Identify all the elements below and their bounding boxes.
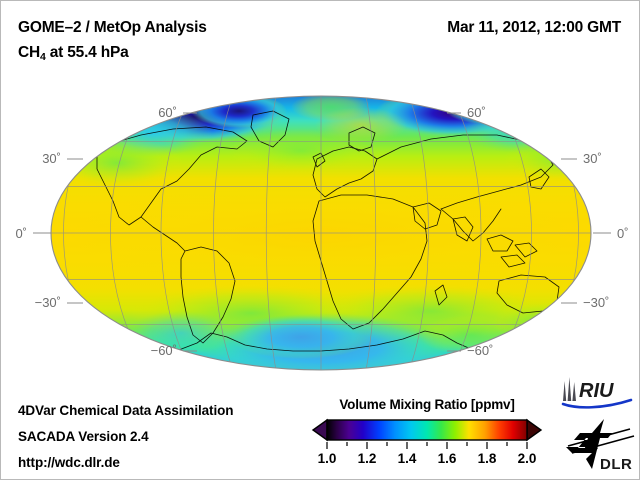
- riu-wordmark: RIU: [579, 380, 614, 402]
- dlr-logo: DLR: [564, 417, 636, 473]
- colorbar-extend-high: [527, 420, 541, 440]
- lat-label-right-m60: −60˚: [467, 343, 493, 358]
- colorbar-tick-1: 1.0: [318, 451, 337, 466]
- colorbar: 1.0 1.2 1.4 1.6 1.8 2.0: [311, 418, 543, 470]
- colorbar-tick-6: 2.0: [518, 451, 537, 466]
- lat-label-left-m30: −30˚: [35, 295, 61, 310]
- dlr-wordmark: DLR: [600, 456, 632, 473]
- lat-label-right-60: 60˚: [467, 105, 486, 120]
- footer-line-assimilation: 4DVar Chemical Data Assimilation: [18, 403, 233, 418]
- lat-label-left-m60: −60˚: [151, 343, 177, 358]
- colorbar-extend-low: [313, 420, 327, 440]
- lat-label-right-0: 0˚: [617, 226, 629, 241]
- species-prefix: CH: [18, 44, 40, 61]
- colorbar-tick-4: 1.6: [438, 451, 457, 466]
- species-subscript: 4: [40, 51, 46, 63]
- lat-label-left-60: 60˚: [158, 105, 177, 120]
- colorbar-title: Volume Mixing Ratio [ppmv]: [311, 397, 543, 412]
- riu-towers-icon: [563, 377, 576, 401]
- lat-label-right-m30: −30˚: [583, 295, 609, 310]
- colorbar-tick-5: 1.8: [478, 451, 497, 466]
- page-title: GOME–2 / MetOp Analysis: [18, 19, 207, 37]
- colorbar-tick-2: 1.2: [358, 451, 377, 466]
- mollweide-map: 60˚ 30˚ 0˚ −30˚ −60˚ 60˚ 30˚ 0˚ −30˚ −60…: [1, 85, 640, 381]
- figure-canvas: GOME–2 / MetOp Analysis CH4 at 55.4 hPa …: [0, 0, 640, 480]
- lat-label-left-0: 0˚: [15, 226, 27, 241]
- lat-label-right-30: 30˚: [583, 151, 602, 166]
- datetime-label: Mar 11, 2012, 12:00 GMT: [447, 19, 621, 37]
- colorbar-ticks: [327, 442, 527, 449]
- footer-line-url[interactable]: http://wdc.dlr.de: [18, 455, 120, 470]
- species-suffix: at 55.4 hPa: [46, 44, 129, 61]
- colorbar-gradient: [327, 420, 527, 440]
- colorbar-block: Volume Mixing Ratio [ppmv]: [311, 397, 543, 470]
- species-level-label: CH4 at 55.4 hPa: [18, 44, 129, 62]
- lat-label-left-30: 30˚: [42, 151, 61, 166]
- colorbar-tick-3: 1.4: [398, 451, 417, 466]
- footer-line-version: SACADA Version 2.4: [18, 429, 149, 444]
- riu-logo: RIU: [559, 375, 635, 409]
- map-panel: 60˚ 30˚ 0˚ −30˚ −60˚ 60˚ 30˚ 0˚ −30˚ −60…: [1, 85, 640, 381]
